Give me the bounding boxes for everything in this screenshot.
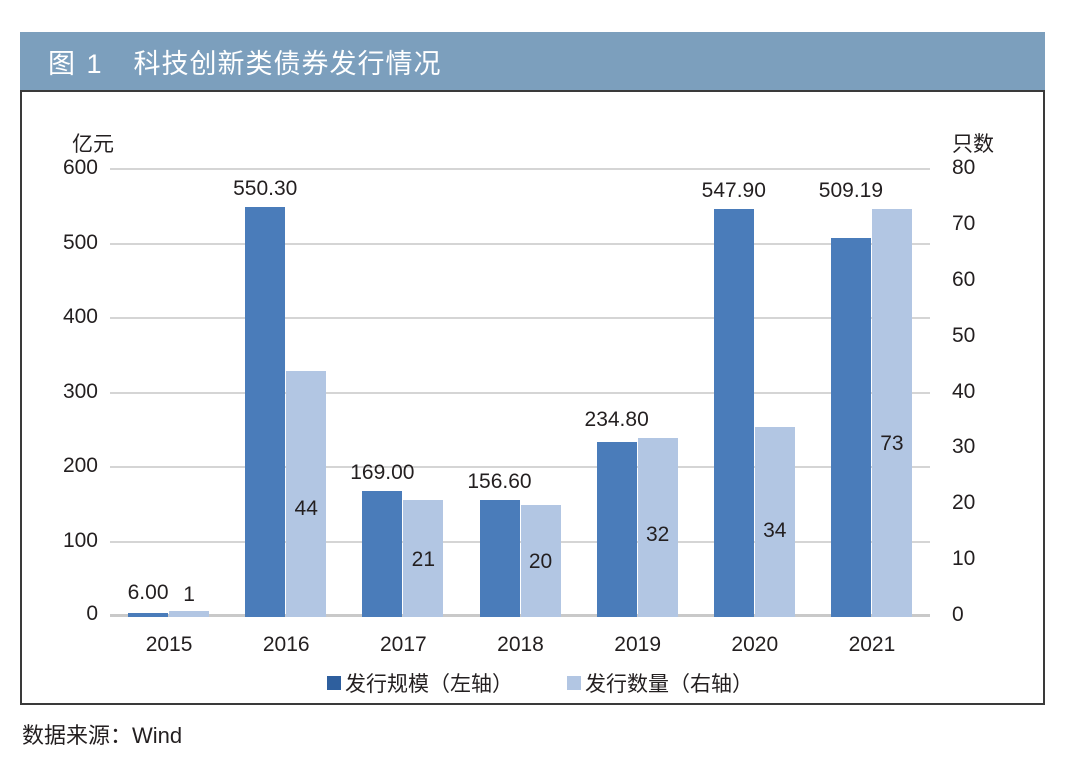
bar-group: 169.00212017 (362, 170, 443, 617)
y-tick-400: 400 (63, 305, 98, 329)
y-tick-100: 100 (63, 529, 98, 553)
bar-label-issue-count: 20 (529, 550, 552, 574)
legend-item-issue-scale[interactable]: 发行规模（左轴） (327, 668, 513, 698)
y-tick-200: 200 (63, 454, 98, 478)
bar-label-issue-scale: 234.80 (585, 408, 649, 432)
y2-tick-40: 40 (952, 380, 975, 404)
bar-issue-scale[interactable] (362, 491, 402, 617)
x-tick-label: 2017 (380, 633, 427, 657)
x-tick-label: 2015 (146, 633, 193, 657)
y2-tick-10: 10 (952, 547, 975, 571)
bar-issue-scale[interactable] (245, 207, 285, 617)
figure-title-bar: 图 1 科技创新类债券发行情况 (20, 32, 1045, 90)
y2-tick-30: 30 (952, 435, 975, 459)
bar-label-issue-scale: 547.90 (702, 179, 766, 203)
page-title: 科技创新类债券发行情况 (134, 42, 442, 81)
x-tick-label: 2018 (497, 633, 544, 657)
bar-issue-scale[interactable] (597, 442, 637, 617)
y2-tick-60: 60 (952, 268, 975, 292)
bar-label-issue-count: 34 (763, 519, 786, 543)
y-tick-600: 600 (63, 156, 98, 180)
bar-label-issue-count: 73 (880, 432, 903, 456)
right-axis-unit-label: 只数 (952, 128, 994, 158)
y2-tick-50: 50 (952, 324, 975, 348)
y-tick-0: 0 (86, 602, 98, 626)
plot-area: 600 500 400 300 200 100 0 80 70 60 (110, 170, 930, 617)
data-source-note: 数据来源：Wind (22, 718, 182, 750)
figure-container: 图 1 科技创新类债券发行情况 亿元 只数 600 500 400 300 20… (0, 0, 1080, 759)
y2-tick-0: 0 (952, 603, 964, 627)
bar-label-issue-count: 21 (412, 548, 435, 572)
bar-issue-count[interactable] (169, 611, 209, 617)
bar-label-issue-scale: 6.00 (128, 581, 169, 605)
bar-label-issue-scale: 156.60 (467, 470, 531, 494)
left-axis-unit-label: 亿元 (72, 128, 114, 158)
y2-tick-20: 20 (952, 491, 975, 515)
x-tick-label: 2016 (263, 633, 310, 657)
legend-label-issue-count: 发行数量（右轴） (585, 668, 753, 698)
bar-group: 156.60202018 (480, 170, 561, 617)
bar-group: 6.0012015 (128, 170, 209, 617)
bar-issue-count[interactable] (872, 209, 912, 617)
legend-swatch-dark-blue-icon (327, 676, 341, 690)
bar-label-issue-scale: 550.30 (233, 177, 297, 201)
bar-group: 234.80322019 (597, 170, 678, 617)
y2-tick-80: 80 (952, 156, 975, 180)
bar-group: 547.90342020 (714, 170, 795, 617)
bar-label-issue-scale: 169.00 (350, 461, 414, 485)
figure-number: 图 1 (48, 42, 104, 81)
bar-issue-scale[interactable] (831, 238, 871, 617)
bar-issue-scale[interactable] (480, 500, 520, 617)
bar-issue-scale[interactable] (714, 209, 754, 617)
x-tick-label: 2020 (731, 633, 778, 657)
bar-group: 509.19732021 (831, 170, 912, 617)
y-tick-300: 300 (63, 380, 98, 404)
legend-swatch-light-blue-icon (567, 676, 581, 690)
bar-issue-count[interactable] (286, 371, 326, 617)
bar-group: 550.30442016 (245, 170, 326, 617)
chart-legend: 发行规模（左轴） 发行数量（右轴） (0, 668, 1080, 698)
y-tick-500: 500 (63, 231, 98, 255)
bar-issue-scale[interactable] (128, 613, 168, 617)
bar-label-issue-count: 1 (183, 583, 195, 607)
x-tick-label: 2019 (614, 633, 661, 657)
legend-item-issue-count[interactable]: 发行数量（右轴） (567, 668, 753, 698)
legend-label-issue-scale: 发行规模（左轴） (345, 668, 513, 698)
bar-label-issue-count: 44 (295, 497, 318, 521)
bar-label-issue-scale: 509.19 (819, 179, 883, 203)
bar-label-issue-count: 32 (646, 523, 669, 547)
y2-tick-70: 70 (952, 212, 975, 236)
x-tick-label: 2021 (849, 633, 896, 657)
